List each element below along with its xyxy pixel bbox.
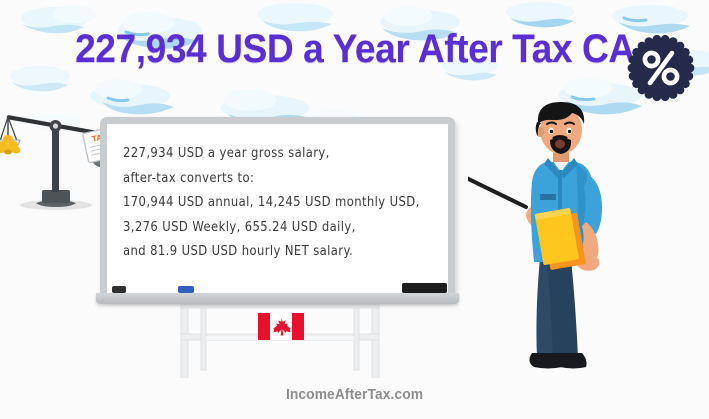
teacher-character <box>468 102 653 387</box>
percent-badge-icon <box>625 32 697 104</box>
whiteboard-surface: 227,934 USD a year gross salary, after-t… <box>107 124 448 293</box>
footer: IncomeAfterTax.com <box>0 386 709 404</box>
blue-marker-icon <box>178 286 194 293</box>
whiteboard: 227,934 USD a year gross salary, after-t… <box>100 117 455 300</box>
black-marker-icon <box>112 286 126 293</box>
pointer-stick-icon <box>468 168 526 207</box>
canada-flag-icon <box>258 313 304 340</box>
balance-scale-icon: TAX <box>0 104 116 216</box>
whiteboard-tray <box>96 293 459 304</box>
board-line-5: and 81.9 USD USD hourly NET salary. <box>123 236 438 265</box>
site-name[interactable]: IncomeAfterTax.com <box>286 386 423 403</box>
page-title: 227,934 USD a Year After Tax CA <box>75 27 635 72</box>
eraser-icon <box>402 283 447 293</box>
page-title-container: 227,934 USD a Year After Tax CA <box>0 18 709 80</box>
